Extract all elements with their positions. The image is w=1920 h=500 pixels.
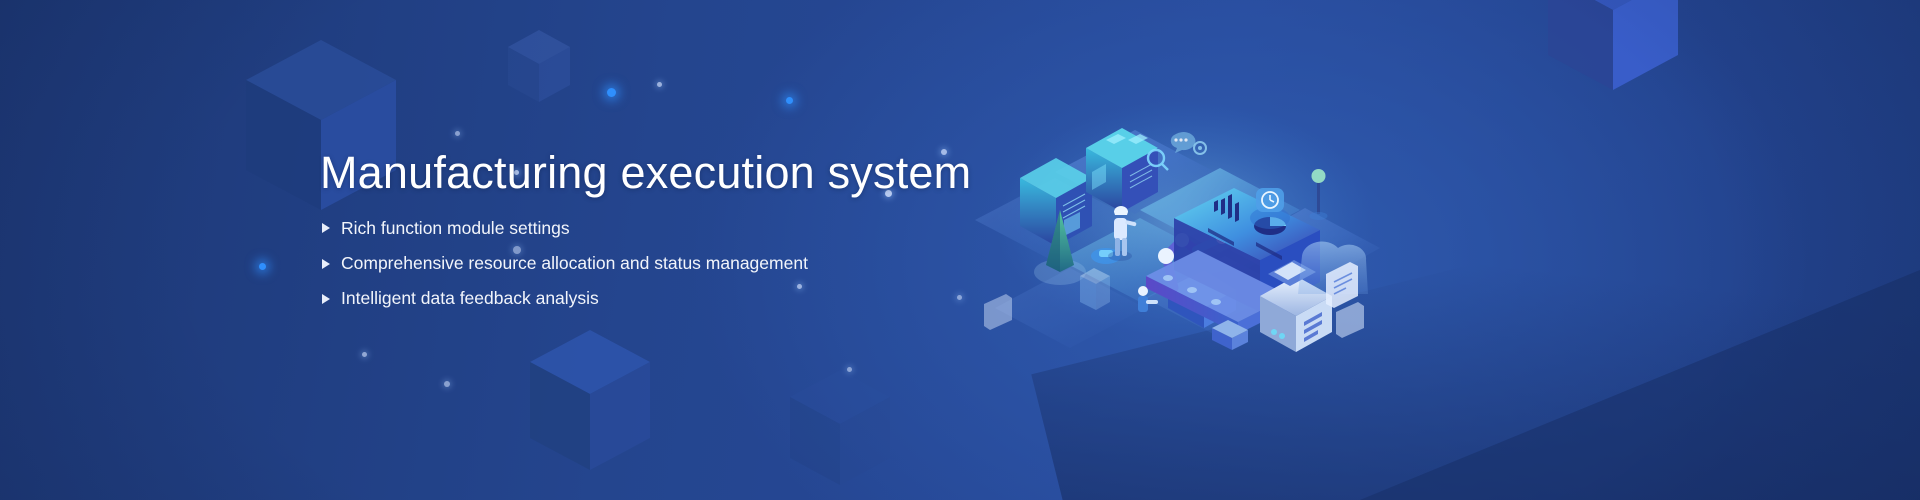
hero-banner: Manufacturing execution system Rich func… <box>0 0 1920 500</box>
list-item: Rich function module settings <box>320 216 971 241</box>
glass-column <box>1080 268 1110 310</box>
triangle-bullet-icon <box>322 223 330 233</box>
list-item: Intelligent data feedback analysis <box>320 286 971 311</box>
page-title: Manufacturing execution system <box>320 148 971 198</box>
feature-list: Rich function module settings Comprehens… <box>320 216 971 312</box>
triangle-bullet-icon <box>322 259 330 269</box>
list-item-label: Rich function module settings <box>341 216 570 241</box>
list-item-label: Comprehensive resource allocation and st… <box>341 251 808 276</box>
info-board <box>1336 302 1364 338</box>
triangle-bullet-icon <box>322 294 330 304</box>
list-item: Comprehensive resource allocation and st… <box>320 251 971 276</box>
isometric-smart-factory-illustration <box>960 60 1380 360</box>
banner-text-block: Manufacturing execution system Rich func… <box>320 148 971 312</box>
list-item-label: Intelligent data feedback analysis <box>341 286 599 311</box>
info-board <box>984 294 1012 330</box>
